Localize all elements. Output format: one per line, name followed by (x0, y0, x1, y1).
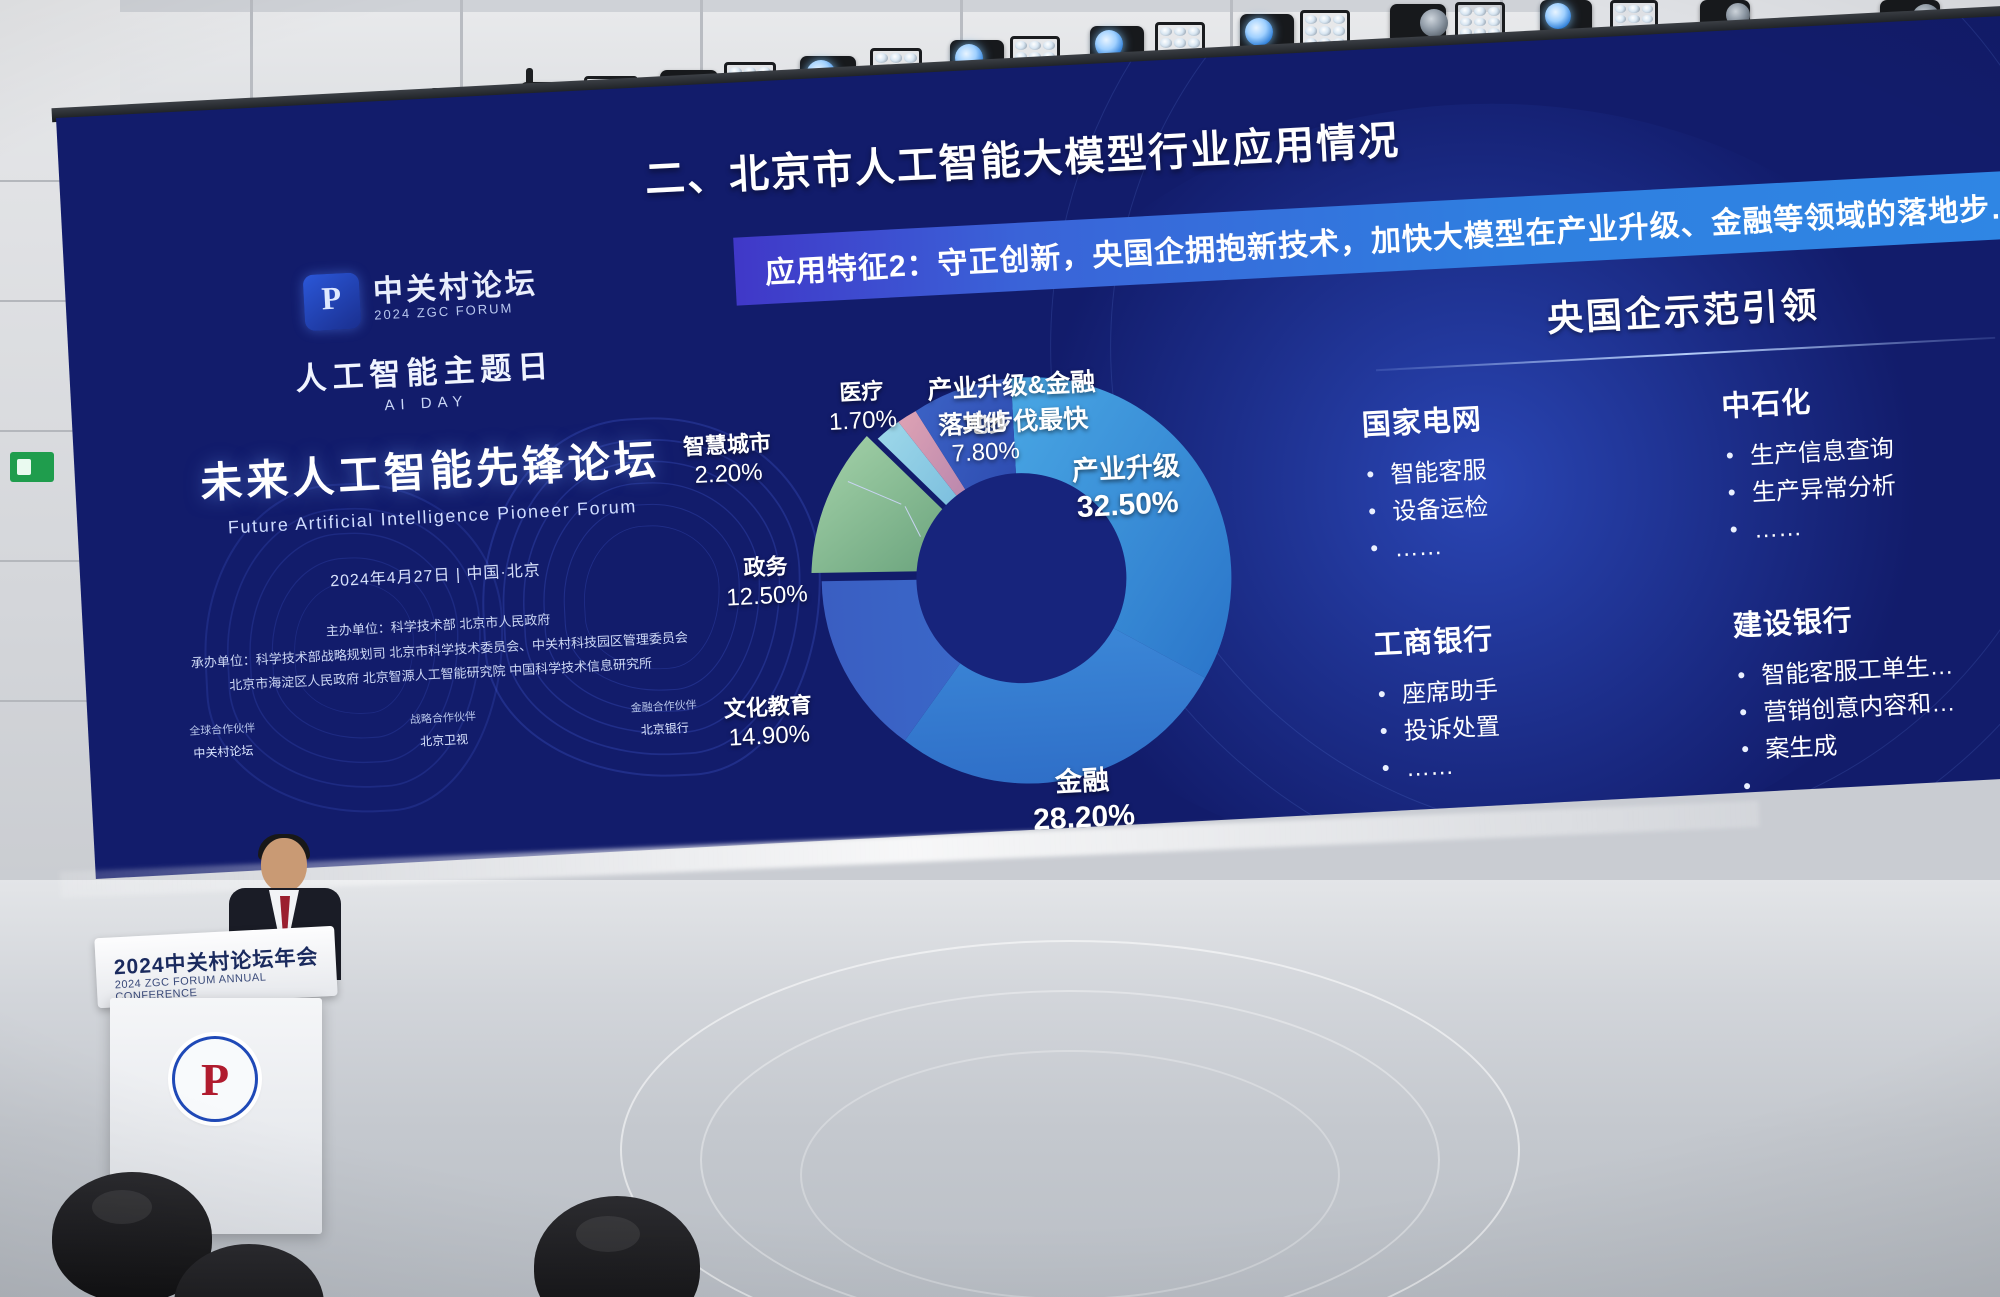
donut-chart: 产业升级&金融 落地步伐最快 产业升级 32.50% 金融 28.20% 文化教… (668, 293, 1334, 846)
org-card-state-grid: 国家电网 智能客服 设备运检 …… (1361, 386, 1681, 570)
podium-emblem-icon (172, 1036, 258, 1122)
label-education: 文化教育 14.90% (677, 689, 860, 756)
chart-footnote: 2023年各领域大模型公开招标金额占比 (787, 865, 1081, 878)
soe-panel: 央国企示范引领 国家电网 智能客服 设备运检 …… 中石化 (1337, 265, 2000, 827)
org-name: 工商银行 (1372, 605, 1686, 663)
partner-global-name: 中关村论坛 (190, 741, 257, 761)
org-name: 国家电网 (1361, 386, 1675, 444)
org-items: 智能客服工单生… 营销创意内容和… 案生成 …… (1735, 642, 2000, 807)
podium-sign: 2024中关村论坛年会 2024 ZGC FORUM ANNUAL CONFER… (94, 926, 337, 1008)
label-other: 其他 7.80% (909, 406, 1062, 471)
audience-head-highlight (92, 1190, 152, 1224)
speaker-head (261, 838, 307, 892)
organizer-block: 主办单位：科学技术部 北京市人民政府 承办单位：科学技术部战略规划司 北京市科学… (178, 600, 701, 701)
photo-scene: 中关村论坛 2024 ZGC FORUM 人工智能主题日 AI DAY 未来人工… (0, 0, 2000, 1297)
forum-date: 2024年4月27日 | 中国·北京 (175, 548, 696, 599)
partner-strategic-label: 战略合作伙伴 (410, 708, 477, 727)
org-card-sinopec: 中石化 生产信息查询 生产异常分析 …… (1720, 367, 2000, 551)
exit-sign (10, 452, 54, 482)
org-card-ccb: 建设银行 智能客服工单生… 营销创意内容和… 案生成 …… (1732, 586, 2000, 807)
forum-branding-panel: 中关村论坛 2024 ZGC FORUM 人工智能主题日 AI DAY 未来人工… (160, 256, 704, 763)
org-items: 智能客服 设备运检 …… (1364, 442, 1681, 570)
led-screen: 中关村论坛 2024 ZGC FORUM 人工智能主题日 AI DAY 未来人工… (56, 15, 2000, 916)
org-name: 建设银行 (1732, 586, 2000, 644)
audience-head-highlight (576, 1216, 640, 1252)
org-items: 座席助手 投诉处置 …… (1375, 661, 1692, 789)
org-name: 中石化 (1720, 367, 2000, 425)
partner-global: 全球合作伙伴 中关村论坛 (189, 719, 257, 761)
partner-strategic: 战略合作伙伴 北京卫视 (410, 708, 478, 750)
partner-global-label: 全球合作伙伴 (189, 719, 256, 738)
soe-grid: 国家电网 智能客服 设备运检 …… 中石化 生产信息查询 生产异常分析 …… (1343, 367, 2000, 827)
label-government: 政务 12.50% (690, 550, 843, 615)
partner-strategic-name: 北京卫视 (411, 730, 478, 750)
org-items: 生产信息查询 生产异常分析 …… (1723, 423, 2000, 551)
org-card-icbc: 工商银行 座席助手 投诉处置 …… (1372, 605, 1694, 826)
zgc-mark-icon (302, 272, 361, 331)
zgc-logo: 中关村论坛 2024 ZGC FORUM (160, 256, 682, 339)
